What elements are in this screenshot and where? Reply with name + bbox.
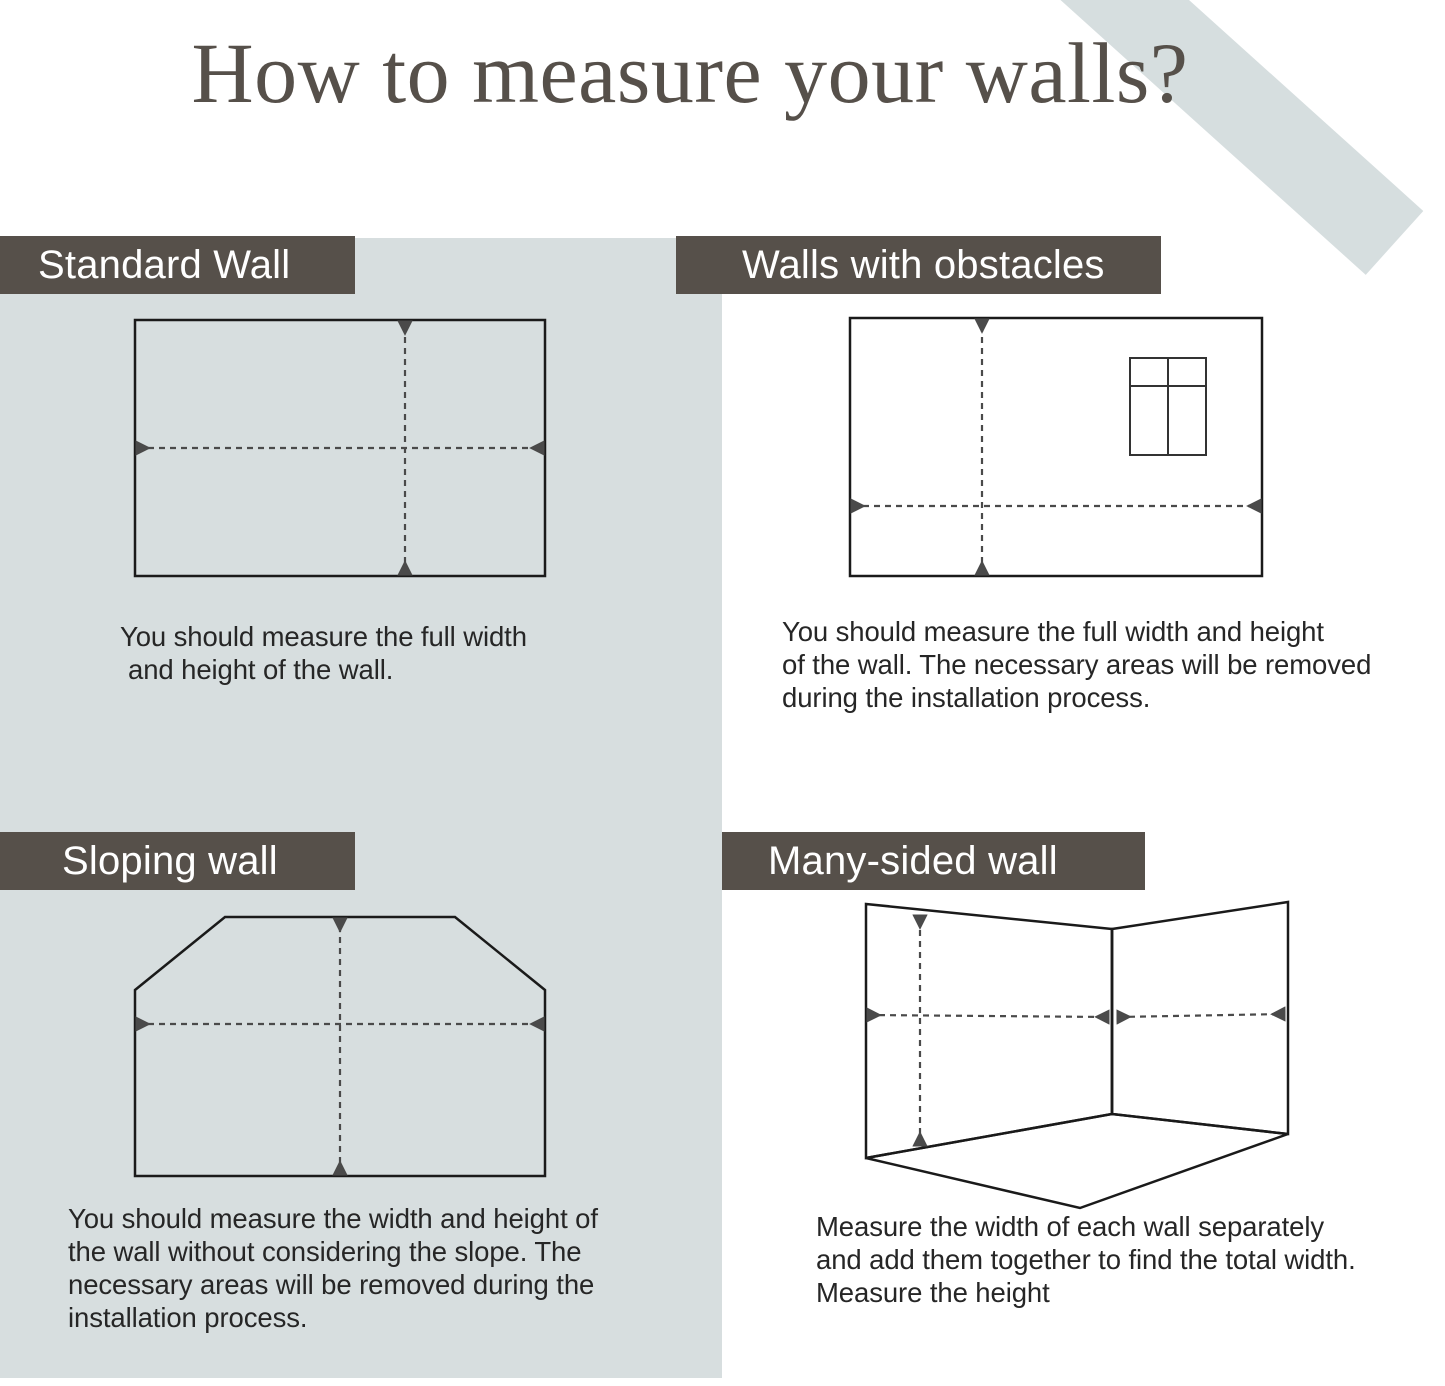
caption-line: installation process. — [68, 1301, 668, 1334]
section-heading-sloping-wall: Sloping wall — [0, 832, 355, 890]
caption-line: and add them together to find the total … — [816, 1243, 1426, 1276]
caption-line: You should measure the full width — [120, 620, 680, 653]
section-heading-many-sided-wall: Many-sided wall — [722, 832, 1145, 890]
diagram-many-sided-wall — [840, 890, 1310, 1220]
caption-line: during the installation process. — [782, 681, 1407, 714]
caption-line: Measure the width of each wall separatel… — [816, 1210, 1426, 1243]
caption-walls-with-obstacles: You should measure the full width and he… — [782, 615, 1407, 714]
section-heading-walls-with-obstacles: Walls with obstacles — [676, 236, 1161, 294]
caption-many-sided-wall: Measure the width of each wall separatel… — [816, 1210, 1426, 1309]
caption-standard-wall: You should measure the full width and he… — [120, 620, 680, 686]
diagram-sloping-wall — [110, 895, 580, 1195]
caption-line: You should measure the full width and he… — [782, 615, 1407, 648]
wall-outline-rect — [850, 318, 1262, 576]
caption-line: necessary areas will be removed during t… — [68, 1268, 668, 1301]
right-wall-face — [1112, 902, 1288, 1134]
diagram-walls-with-obstacles — [825, 298, 1295, 598]
left-wall-width-arrow — [868, 1015, 1108, 1017]
caption-line: and height of the wall. — [128, 653, 680, 686]
caption-sloping-wall: You should measure the width and height … — [68, 1202, 668, 1334]
page-title: How to measure your walls? — [0, 28, 1380, 118]
section-heading-standard-wall: Standard Wall — [0, 236, 355, 294]
window-obstacle-icon — [1130, 358, 1206, 455]
infographic-page: How to measure your walls? Standard Wall… — [0, 0, 1445, 1386]
caption-line: You should measure the width and height … — [68, 1202, 668, 1235]
diagram-standard-wall — [110, 300, 580, 600]
right-wall-width-arrow — [1118, 1014, 1284, 1017]
caption-line: Measure the height — [816, 1276, 1426, 1309]
floor-face — [866, 1114, 1288, 1208]
caption-line: of the wall. The necessary areas will be… — [782, 648, 1407, 681]
caption-line: the wall without considering the slope. … — [68, 1235, 668, 1268]
